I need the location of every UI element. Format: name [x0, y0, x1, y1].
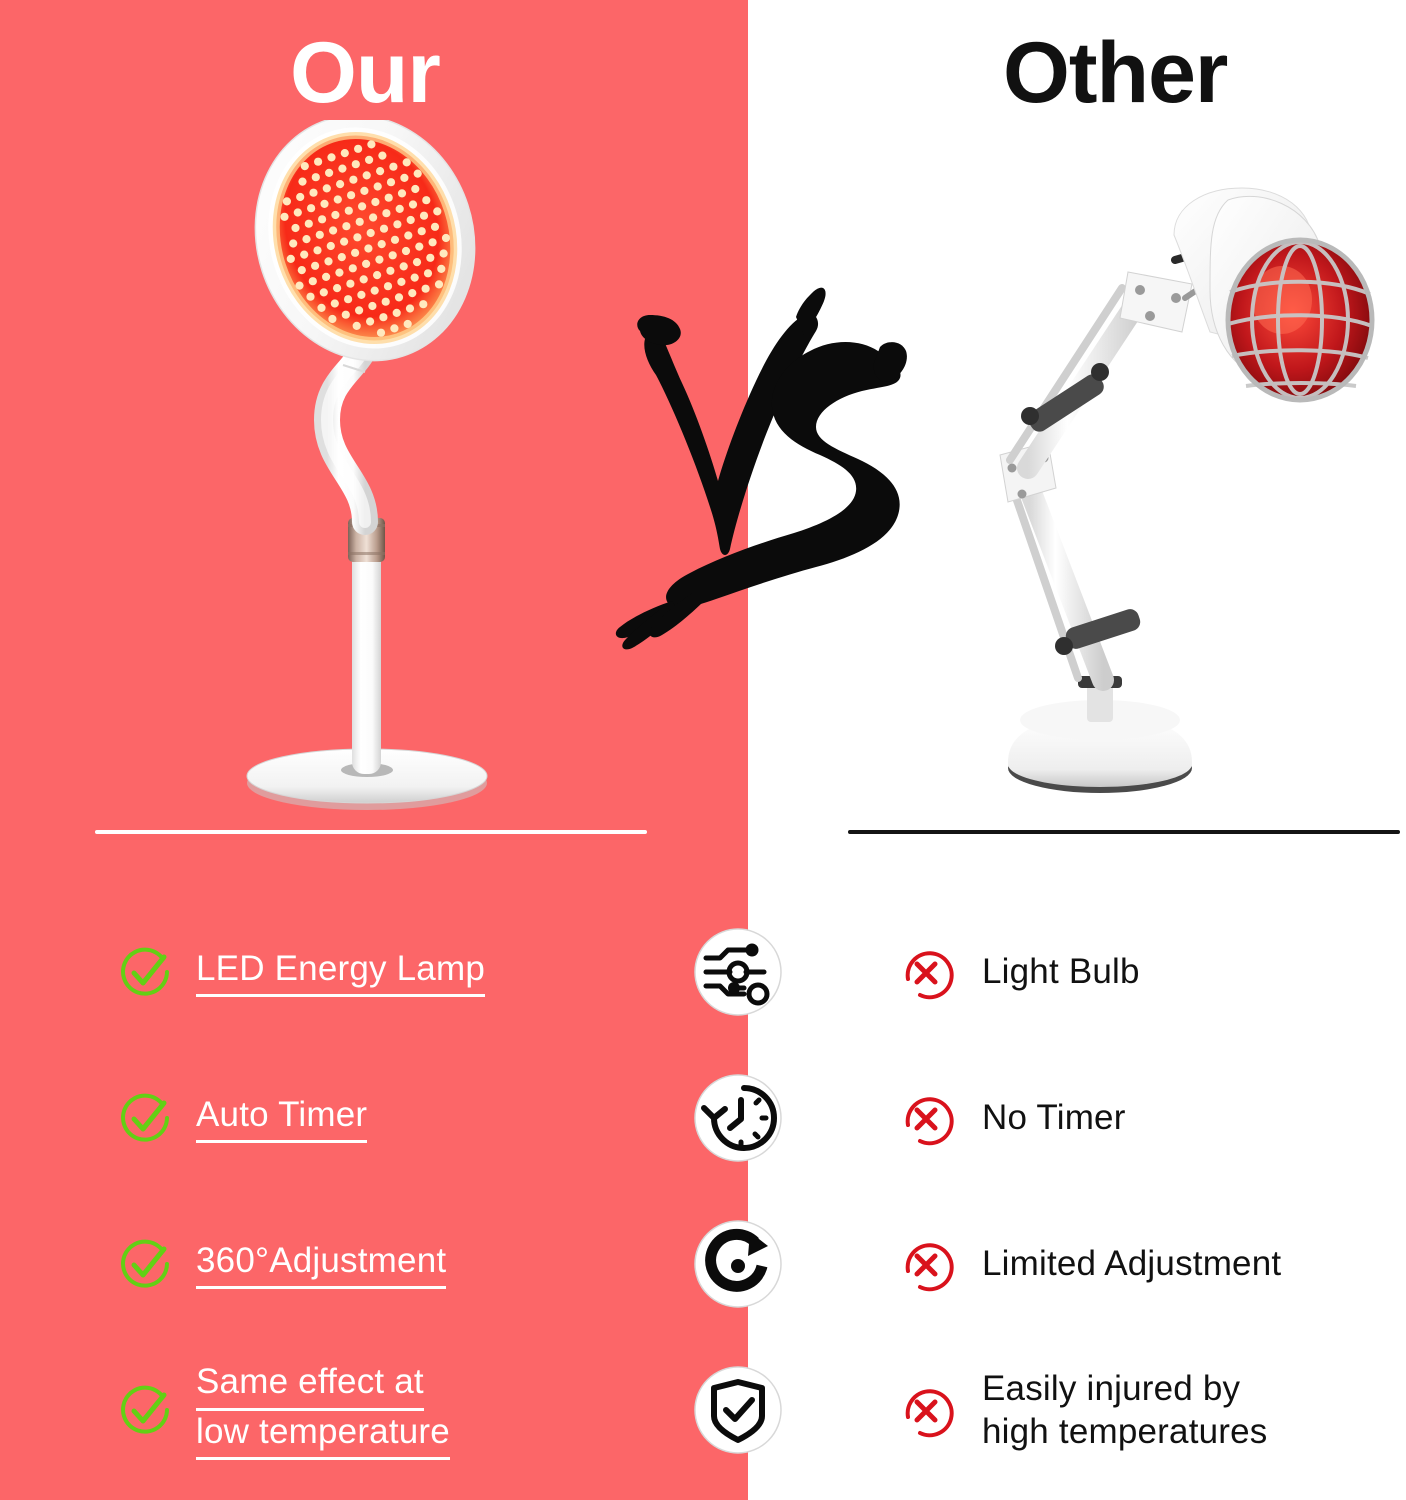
- cross-circle-icon: [898, 1383, 954, 1439]
- con-label: No Timer: [982, 1097, 1126, 1140]
- check-circle-icon: [118, 1383, 174, 1439]
- cross-circle-icon: [898, 1091, 954, 1147]
- con-label: Limited Adjustment: [982, 1243, 1281, 1286]
- pro-label: LED Energy Lamp: [196, 948, 485, 997]
- clock-timer-icon: [692, 1072, 784, 1164]
- pro-label-text-line1: Same effect at: [196, 1361, 424, 1410]
- product-image-desk-lamp: [960, 180, 1405, 805]
- check-circle-icon: [118, 945, 174, 1001]
- heading-our: Our: [290, 30, 440, 116]
- con-cell-limited-adjustment: Limited Adjustment: [898, 1192, 1398, 1337]
- check-circle-icon: [118, 1091, 174, 1147]
- con-label: Easily injured by high temperatures: [982, 1368, 1268, 1453]
- con-cell-easily-injured: Easily injured by high temperatures: [898, 1338, 1398, 1483]
- pro-label: Same effect at low temperature: [196, 1361, 450, 1460]
- con-label: Light Bulb: [982, 951, 1140, 994]
- pro-cell-360-adjustment: 360°Adjustment: [118, 1192, 678, 1337]
- feature-row: LED Energy Lamp: [0, 900, 1406, 1045]
- cross-circle-icon: [898, 1237, 954, 1293]
- pro-label-text: 360°Adjustment: [196, 1240, 446, 1289]
- pro-cell-led-energy-lamp: LED Energy Lamp: [118, 900, 678, 1045]
- check-circle-icon: [118, 1237, 174, 1293]
- pro-label-text: Auto Timer: [196, 1094, 367, 1143]
- cross-circle-icon: [898, 945, 954, 1001]
- con-cell-no-timer: No Timer: [898, 1046, 1398, 1191]
- pro-label: 360°Adjustment: [196, 1240, 446, 1289]
- con-cell-light-bulb: Light Bulb: [898, 900, 1398, 1045]
- product-image-led-lamp: [215, 120, 515, 810]
- pro-label-text: LED Energy Lamp: [196, 948, 485, 997]
- heading-other: Other: [1003, 30, 1227, 116]
- pro-cell-auto-timer: Auto Timer: [118, 1046, 678, 1191]
- feature-row: Auto Timer No T: [0, 1046, 1406, 1191]
- pro-cell-same-effect-low-temperature: Same effect at low temperature: [118, 1338, 678, 1483]
- comparison-infographic: Our Other: [0, 0, 1406, 1500]
- feature-row: 360°Adjustment Limited Adjustment: [0, 1192, 1406, 1337]
- circuit-board-icon: [692, 926, 784, 1018]
- feature-comparison-list: LED Energy Lamp: [0, 900, 1406, 1480]
- pro-label-text-line2: low temperature: [196, 1411, 450, 1460]
- divider-right: [848, 830, 1400, 834]
- pro-label: Auto Timer: [196, 1094, 367, 1143]
- rotate-360-icon: [692, 1218, 784, 1310]
- shield-check-icon: [692, 1364, 784, 1456]
- vs-brush-icon: [610, 285, 910, 675]
- divider-left: [95, 830, 647, 834]
- feature-row: Same effect at low temperature Easily in…: [0, 1338, 1406, 1483]
